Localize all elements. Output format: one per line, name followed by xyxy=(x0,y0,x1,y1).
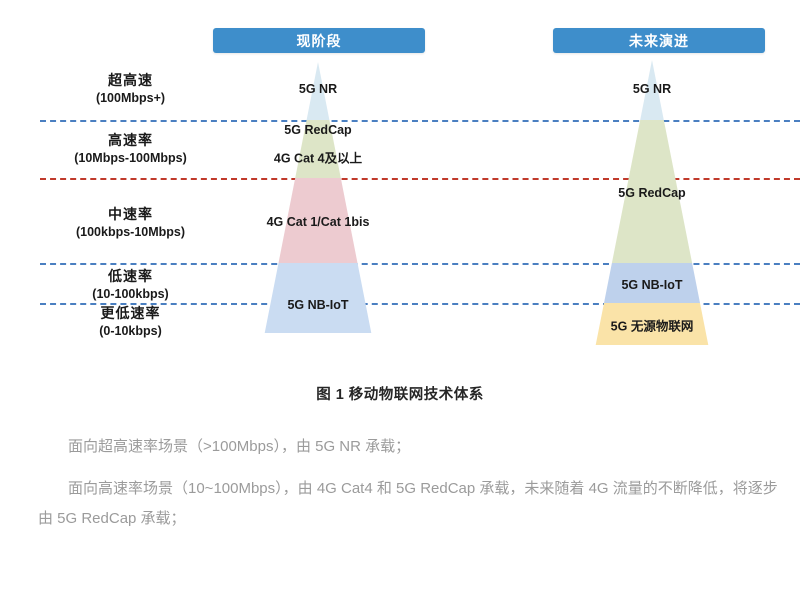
band-5g-nr xyxy=(640,60,664,120)
pyramid-future-stage: 5G NR 5G RedCap 5G NB-IoT 5G 无源物联网 xyxy=(0,0,800,370)
band-5g-passive-iot xyxy=(596,303,709,345)
pyramid-future-svg xyxy=(0,0,800,370)
figure-caption: 图 1 移动物联网技术体系 xyxy=(0,383,800,404)
band-5g-redcap xyxy=(612,120,692,263)
article-body: 面向超高速率场景（>100Mbps），由 5G NR 承载； 面向高速率场景（1… xyxy=(38,432,783,546)
figure-mobile-iot-technology-system: 现阶段 未来演进 超高速 (100Mbps+) 高速率 (10Mbps-100M… xyxy=(0,0,800,370)
band-5g-nbiot xyxy=(604,263,700,303)
body-paragraph-1: 面向超高速率场景（>100Mbps），由 5G NR 承载； xyxy=(38,432,783,462)
body-paragraph-2: 面向高速率场景（10~100Mbps），由 4G Cat4 和 5G RedCa… xyxy=(38,474,783,534)
